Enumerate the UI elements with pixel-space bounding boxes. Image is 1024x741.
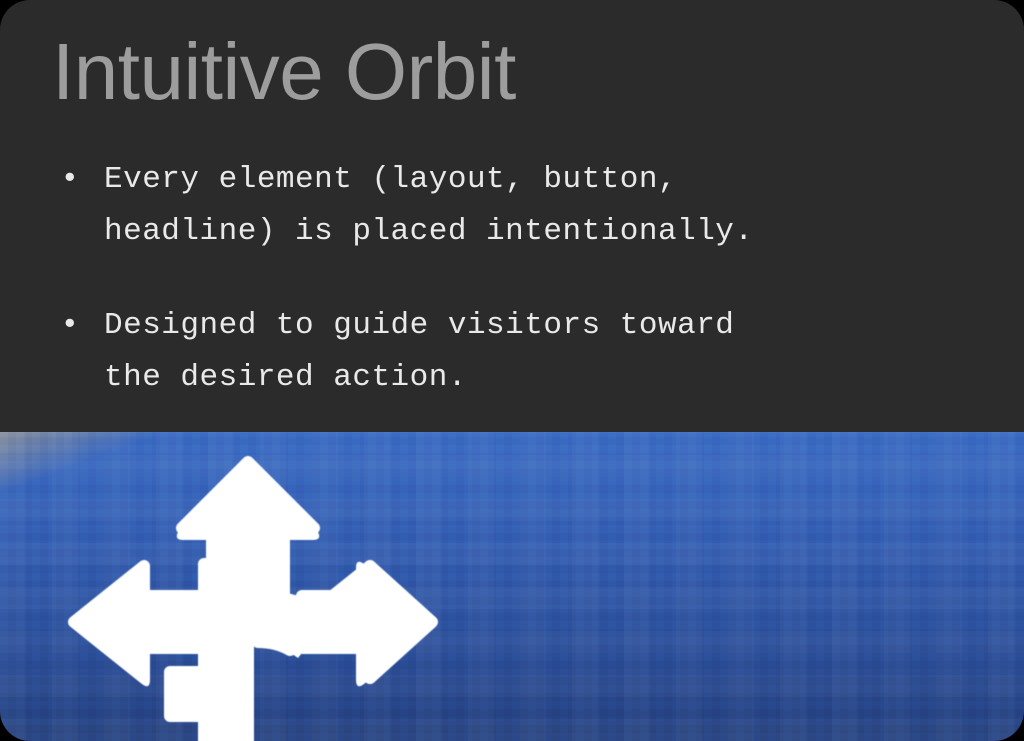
three-way-direction-arrows-icon (52, 444, 452, 741)
bullet-text: Designed to guide visitors toward the de… (104, 300, 982, 404)
page-title: Intuitive Orbit (52, 32, 516, 112)
image-panel (0, 432, 1024, 741)
bullet-marker-icon: • (60, 154, 80, 206)
bullet-list: • Every element (layout, button, headlin… (52, 154, 982, 404)
slide-card: Intuitive Orbit • Every element (layout,… (0, 0, 1024, 741)
list-item: • Every element (layout, button, headlin… (52, 154, 982, 258)
list-item: • Designed to guide visitors toward the … (52, 300, 982, 404)
bullet-marker-icon: • (60, 300, 80, 352)
text-panel: Intuitive Orbit • Every element (layout,… (0, 0, 1024, 432)
bullet-text: Every element (layout, button, headline)… (104, 154, 982, 258)
